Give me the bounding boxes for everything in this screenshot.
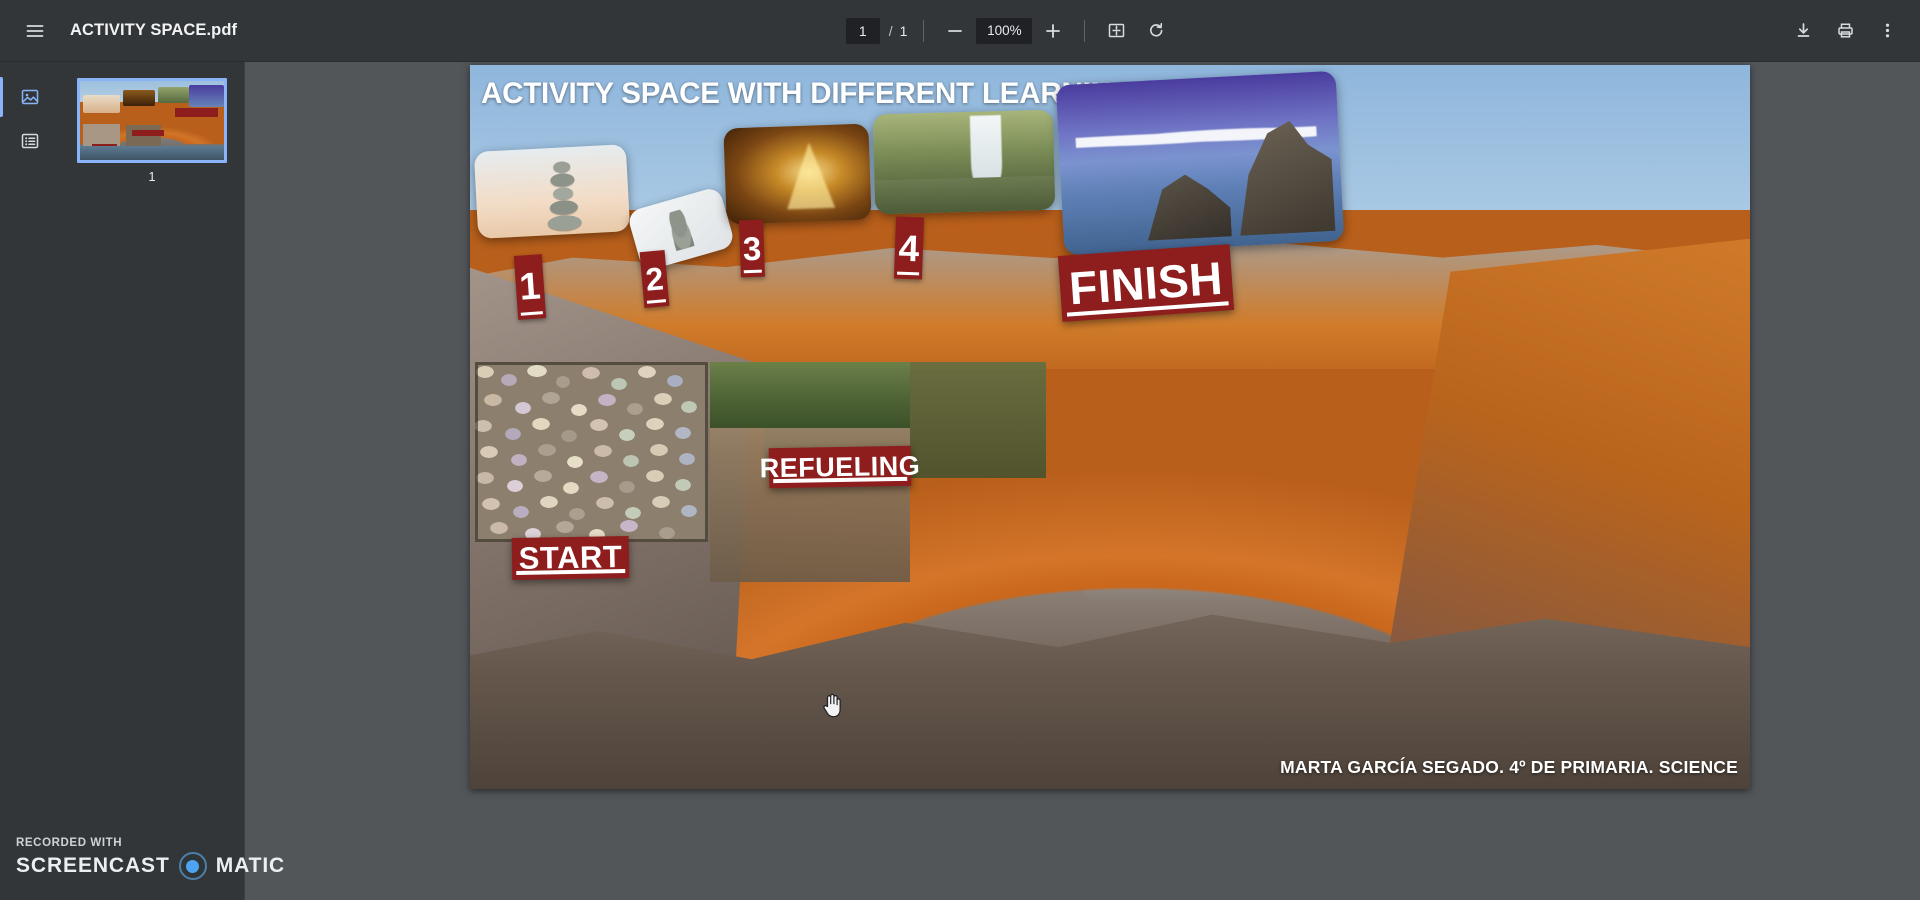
hamburger-menu-icon[interactable] xyxy=(16,12,54,50)
sidebar-item-thumbnail-view[interactable] xyxy=(11,78,49,116)
station-marker-3-label: 3 xyxy=(742,232,761,266)
station-marker-4: 4 xyxy=(894,217,924,280)
watermark-brand-row: SCREENCAST MATIC xyxy=(16,852,285,880)
toolbar-left-group: ACTIVITY SPACE.pdf xyxy=(0,12,237,50)
refueling-banner: REFUELING xyxy=(769,446,912,488)
zoom-out-button[interactable] xyxy=(936,12,974,50)
rotate-clockwise-icon[interactable] xyxy=(1137,12,1175,50)
station-marker-4-label: 4 xyxy=(898,229,920,267)
watermark-word-matic: MATIC xyxy=(216,854,285,878)
sidebar-rail xyxy=(0,62,60,900)
start-banner: START xyxy=(512,536,630,580)
station-marker-1: 1 xyxy=(514,254,546,320)
cairn-shape xyxy=(544,161,581,232)
toolbar-divider-1 xyxy=(923,20,924,42)
coastal-cliffs-photo xyxy=(1056,71,1345,255)
screencast-o-matic-watermark: RECORDED WITH SCREENCAST MATIC xyxy=(16,837,285,880)
zoom-in-button[interactable] xyxy=(1034,12,1072,50)
watermark-recorded-with-label: RECORDED WITH xyxy=(16,837,285,849)
thumbnail-page-label: 1 xyxy=(77,169,227,184)
station-marker-2: 2 xyxy=(640,250,670,308)
page-total-count: 1 xyxy=(900,23,908,39)
toolbar-center-group: / 1 100% xyxy=(237,12,1784,50)
pdf-toolbar: ACTIVITY SPACE.pdf / 1 100% xyxy=(0,0,1920,62)
sidebar-item-outline-view[interactable] xyxy=(11,122,49,160)
station-marker-1-label: 1 xyxy=(518,267,542,306)
station-marker-2-label: 2 xyxy=(644,262,665,295)
document-title: ACTIVITY SPACE.pdf xyxy=(70,21,237,40)
thumbnail-preview-image xyxy=(77,78,227,163)
golden-sunset-arch-photo xyxy=(723,123,871,224)
toolbar-divider-2 xyxy=(1084,20,1085,42)
print-icon[interactable] xyxy=(1826,12,1864,50)
more-vertical-icon[interactable] xyxy=(1868,12,1906,50)
pdf-viewer-area[interactable]: ACTIVITY SPACE WITH DIFFERENT LEARNING R… xyxy=(245,62,1920,900)
sea-rock-shape xyxy=(1144,168,1231,240)
thumbnail-item-page-1[interactable]: 1 xyxy=(77,78,227,184)
pebble-wall-image xyxy=(475,362,708,542)
station-marker-3: 3 xyxy=(739,220,765,278)
author-credit-text: MARTA GARCÍA SEGADO. 4º DE PRIMARIA. SCI… xyxy=(1280,757,1738,778)
sun-glow-shape xyxy=(785,142,835,210)
waterfall-photo xyxy=(873,110,1056,215)
page-number-input[interactable] xyxy=(846,18,880,44)
page-indicator: / 1 xyxy=(846,18,908,44)
toolbar-right-group xyxy=(1784,12,1920,50)
watermark-word-screencast: SCREENCAST xyxy=(16,854,170,878)
zoom-level-value[interactable]: 100% xyxy=(976,18,1032,44)
screencast-record-dot-icon xyxy=(179,852,207,880)
download-icon[interactable] xyxy=(1784,12,1822,50)
page-separator: / xyxy=(889,23,893,39)
stacked-stones-photo xyxy=(474,144,630,239)
fit-to-page-icon[interactable] xyxy=(1097,12,1135,50)
thumbnail-panel: 1 xyxy=(60,62,245,900)
finish-banner: FINISH xyxy=(1058,244,1234,322)
green-vegetation-band xyxy=(710,362,910,428)
pdf-page-1[interactable]: ACTIVITY SPACE WITH DIFFERENT LEARNING R… xyxy=(470,65,1750,789)
